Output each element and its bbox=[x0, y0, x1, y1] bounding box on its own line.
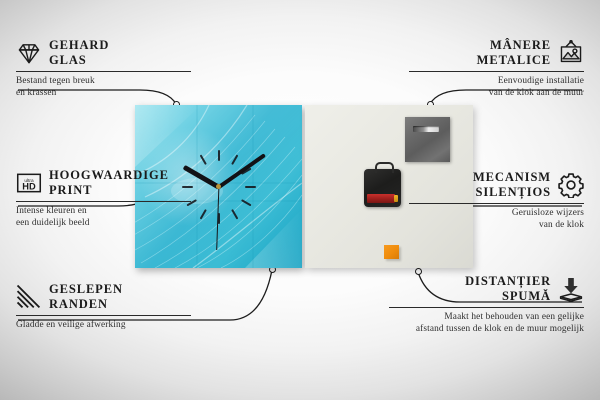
feature-foam-spacer: DISTANȚIER SPUMĂ Maakt het behouden van … bbox=[389, 274, 584, 335]
feature-title-line1: HOOGWAARDIGE bbox=[49, 168, 169, 183]
hanging-picture-icon bbox=[558, 40, 584, 66]
feature-subtitle: Gladde en veilige afwerking bbox=[16, 319, 191, 331]
battery bbox=[367, 194, 395, 203]
feature-subtitle: Eenvoudige installatie van de klok aan d… bbox=[409, 75, 584, 99]
clock-mechanism-box bbox=[364, 169, 401, 207]
feature-ground-edges: GESLEPEN RANDEN Gladde en veilige afwerk… bbox=[16, 282, 191, 331]
feature-title: GEHARD GLAS bbox=[49, 38, 109, 68]
feature-subtitle-line2: van de klok bbox=[409, 219, 584, 231]
feature-subtitle-line1: Gladde en veilige afwerking bbox=[16, 319, 191, 331]
feature-subtitle: Intense kleuren en een duidelijk beeld bbox=[16, 205, 191, 229]
feature-subtitle-line1: Bestand tegen breuk bbox=[16, 75, 191, 87]
feature-title-line1: GESLEPEN bbox=[49, 282, 123, 297]
feature-title-line2: SPUMĂ bbox=[465, 289, 551, 304]
feature-subtitle-line2: van de klok aan de muur bbox=[409, 87, 584, 99]
gear-icon bbox=[558, 172, 584, 198]
feature-header: DISTANȚIER SPUMĂ bbox=[389, 274, 584, 304]
feature-header: MÂNERE METALICE bbox=[409, 38, 584, 68]
feature-subtitle-line2: afstand tussen de klok en de muur mogeli… bbox=[389, 323, 584, 335]
spacer-arrow-icon bbox=[558, 276, 584, 302]
feature-title-line1: MECANISM bbox=[473, 170, 551, 185]
feature-title-line1: GEHARD bbox=[49, 38, 109, 53]
metal-hanger-plate bbox=[405, 117, 450, 162]
feature-header: GESLEPEN RANDEN bbox=[16, 282, 191, 312]
feature-title-line2: SILENȚIOS bbox=[473, 185, 551, 200]
feature-subtitle: Bestand tegen breuk en krassen bbox=[16, 75, 191, 99]
feature-title: GESLEPEN RANDEN bbox=[49, 282, 123, 312]
foam-spacer bbox=[384, 245, 399, 259]
divider bbox=[389, 307, 584, 308]
feature-subtitle-line1: Maakt het behouden van een gelijke bbox=[389, 311, 584, 323]
ultra-hd-icon: ultra HD bbox=[16, 170, 42, 196]
feature-subtitle-line2: en krassen bbox=[16, 87, 191, 99]
divider bbox=[16, 201, 191, 202]
feature-subtitle: Maakt het behouden van een gelijke afsta… bbox=[389, 311, 584, 335]
divider bbox=[16, 71, 191, 72]
feature-subtitle-line1: Geruisloze wijzers bbox=[409, 207, 584, 219]
feature-high-quality-print: ultra HD HOOGWAARDIGE PRINT Intense kleu… bbox=[16, 168, 191, 229]
feature-subtitle-line2: een duidelijk beeld bbox=[16, 217, 191, 229]
feature-title-line1: DISTANȚIER bbox=[465, 274, 551, 289]
feature-header: ultra HD HOOGWAARDIGE PRINT bbox=[16, 168, 191, 198]
hd-label: HD bbox=[22, 181, 36, 191]
feature-subtitle: Geruisloze wijzers van de klok bbox=[409, 207, 584, 231]
feature-title: HOOGWAARDIGE PRINT bbox=[49, 168, 169, 198]
feature-header: GEHARD GLAS bbox=[16, 38, 191, 68]
minute-hand bbox=[217, 153, 265, 188]
divider bbox=[16, 315, 191, 316]
feature-silent-mechanism: MECANISM SILENȚIOS Geruisloze wijzers va… bbox=[409, 170, 584, 231]
divider bbox=[409, 71, 584, 72]
beveled-edges-icon bbox=[16, 284, 42, 310]
feature-title-line2: GLAS bbox=[49, 53, 109, 68]
diamond-icon bbox=[16, 40, 42, 66]
feature-title-line2: PRINT bbox=[49, 183, 169, 198]
divider bbox=[409, 203, 584, 204]
feature-title: MÂNERE METALICE bbox=[477, 38, 551, 68]
feature-tempered-glass: GEHARD GLAS Bestand tegen breuk en krass… bbox=[16, 38, 191, 99]
hanger-slot bbox=[413, 126, 439, 132]
feature-subtitle-line1: Eenvoudige installatie bbox=[409, 75, 584, 87]
feature-title-line2: METALICE bbox=[477, 53, 551, 68]
feature-title-line1: MÂNERE bbox=[477, 38, 551, 53]
metal-hanger-loop bbox=[375, 162, 394, 173]
feature-title-line2: RANDEN bbox=[49, 297, 123, 312]
infographic-canvas: GEHARD GLAS Bestand tegen breuk en krass… bbox=[0, 0, 600, 400]
feature-title: MECANISM SILENȚIOS bbox=[473, 170, 551, 200]
feature-metal-handles: MÂNERE METALICE Eenvoudige installatie v… bbox=[409, 38, 584, 99]
feature-title: DISTANȚIER SPUMĂ bbox=[465, 274, 551, 304]
clock-center-pivot bbox=[216, 184, 221, 189]
feature-subtitle-line1: Intense kleuren en bbox=[16, 205, 191, 217]
feature-header: MECANISM SILENȚIOS bbox=[409, 170, 584, 200]
